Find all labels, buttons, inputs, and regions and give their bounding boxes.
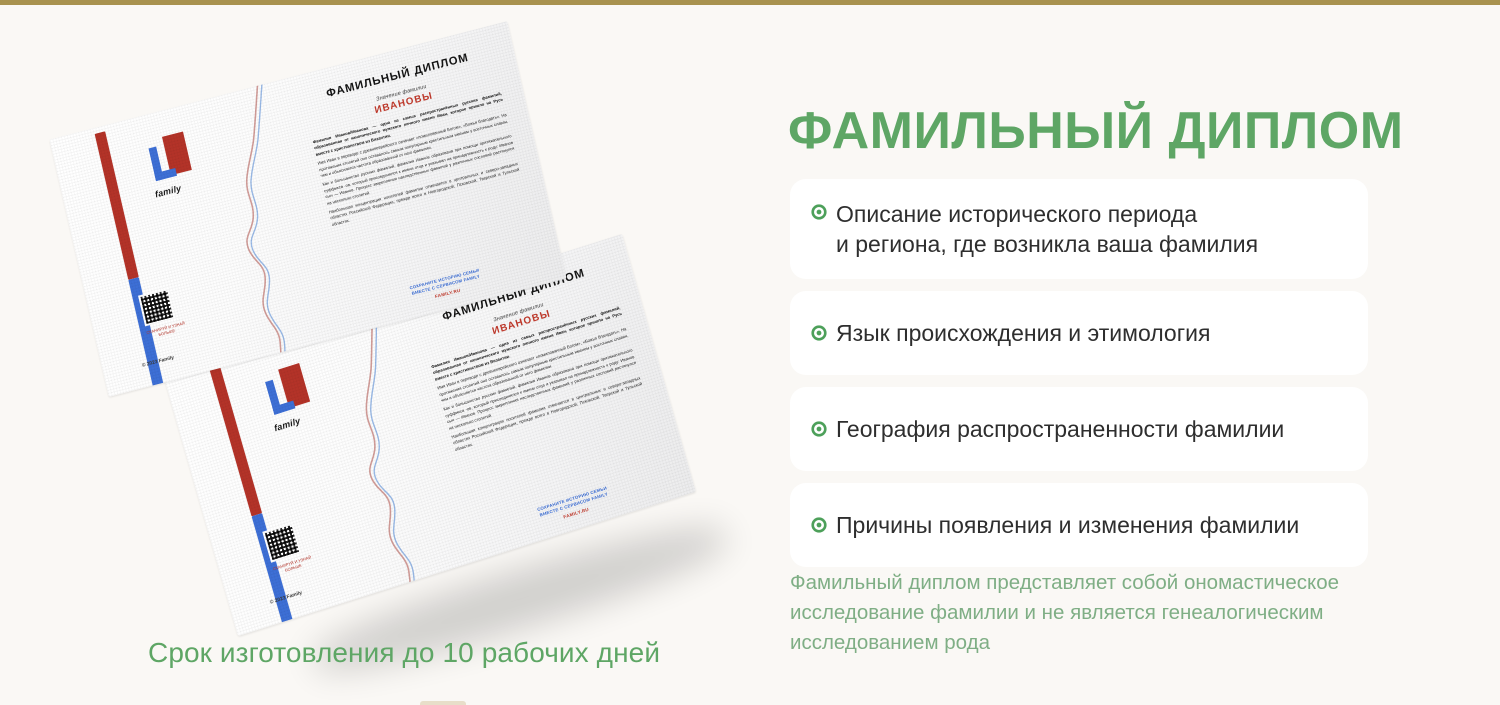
bullet-icon [814, 424, 824, 434]
family-logo-icon [259, 360, 323, 426]
feature-card-1-text: Описание исторического периода и регионa… [836, 199, 1258, 259]
feature-card-1-line-1: Описание исторического периода [836, 201, 1197, 227]
copy-pane: ФАМИЛЬНЫЙ ДИПЛОМ Описание исторического … [760, 5, 1500, 705]
next-section-peek [420, 701, 466, 705]
bullet-icon [814, 328, 824, 338]
page-title: ФАМИЛЬНЫЙ ДИПЛОМ [788, 101, 1404, 161]
product-mockup-pane: family СКАНИРУЙ И УЗНАЙ БОЛЬШЕ © 2023 Fa… [0, 5, 760, 705]
feature-card-1[interactable]: Описание исторического периода и регионa… [790, 179, 1368, 279]
feature-card-2-text: Язык происхождения и этимология [836, 318, 1210, 348]
diploma-footer: СОХРАНИТЕ ИСТОРИЮ СЕМЬИ ВМЕСТЕ С СЕРВИСО… [477, 467, 671, 546]
qr-code[interactable] [138, 288, 176, 327]
red-stripe [210, 367, 262, 516]
red-stripe [95, 131, 139, 280]
feature-card-3-text: География распространенности фамилии [836, 414, 1284, 444]
promo-section: family СКАНИРУЙ И УЗНАЙ БОЛЬШЕ © 2023 Fa… [0, 5, 1500, 705]
lead-time-caption: Срок изготовления до 10 рабочих дней [148, 637, 660, 669]
feature-list: Описание исторического периода и регионa… [790, 179, 1368, 567]
feature-card-4-text: Причины появления и изменения фамилии [836, 510, 1299, 540]
feature-card-4[interactable]: Причины появления и изменения фамилии [790, 483, 1368, 567]
bullet-icon [814, 520, 824, 530]
feature-card-2[interactable]: Язык происхождения и этимология [790, 291, 1368, 375]
feature-card-1-line-2: и регионa, где возникла ваша фамилия [836, 231, 1258, 257]
feature-card-3[interactable]: География распространенности фамилии [790, 387, 1368, 471]
disclaimer-text: Фамильный диплом представляет собой оном… [790, 568, 1390, 658]
diploma-footer-line-2: ВМЕСТЕ С СЕРВИСОМ FAMILY [479, 472, 669, 537]
bullet-icon [814, 207, 824, 217]
family-logo-icon [143, 129, 204, 192]
diploma-mockup-stage: family СКАНИРУЙ И УЗНАЙ БОЛЬШЕ © 2023 Fa… [60, 65, 740, 615]
